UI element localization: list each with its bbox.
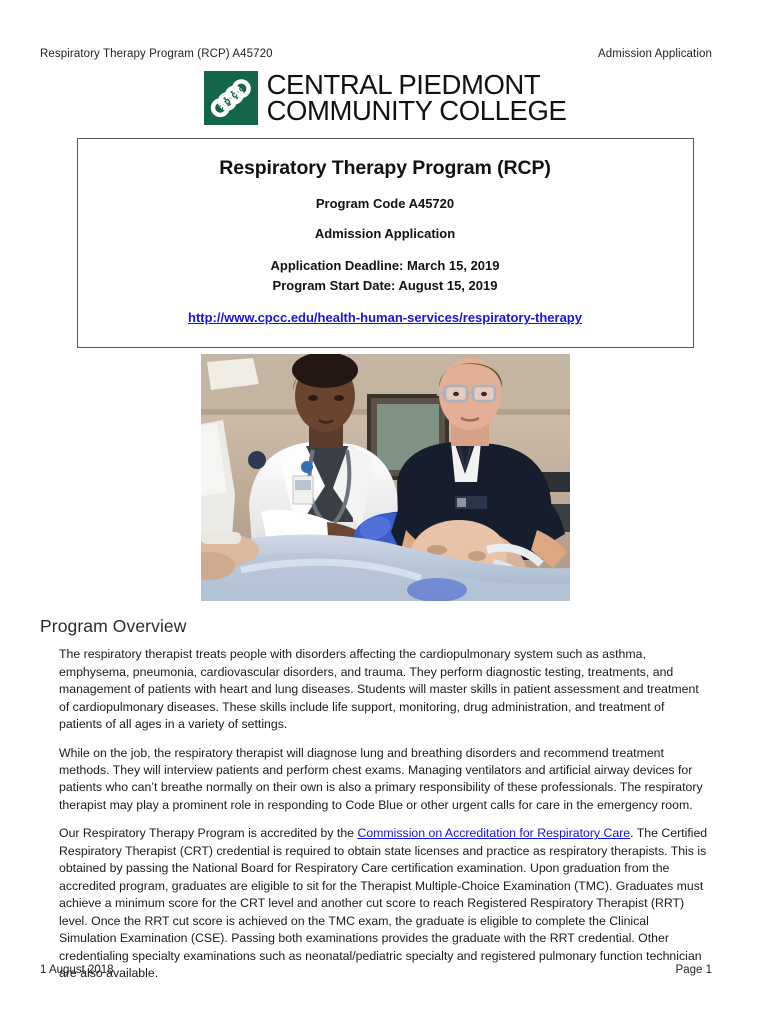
program-dates: Application Deadline: March 15, 2019 Pro… [98, 256, 673, 296]
accreditation-paragraph: Our Respiratory Therapy Program is accre… [59, 825, 708, 982]
program-title-box: Respiratory Therapy Program (RCP) Progra… [77, 138, 694, 348]
program-photo-container [40, 354, 730, 601]
accreditation-text-before: Our Respiratory Therapy Program is accre… [59, 826, 357, 840]
footer-page-number: Page 1 [676, 964, 730, 976]
logo-wordmark: CENTRAL PIEDMONT COMMUNITY COLLEGE [267, 71, 567, 123]
coarc-link[interactable]: Commission on Accreditation for Respirat… [357, 826, 630, 840]
document-header: Respiratory Therapy Program (RCP) A45720… [40, 0, 730, 60]
cpcc-logo-mark-icon: c p c c [204, 71, 258, 125]
overview-paragraph-1: The respiratory therapist treats people … [59, 646, 708, 733]
document-footer: 1 August 2018 Page 1 [40, 964, 730, 976]
header-doc-type-label: Admission Application [598, 48, 730, 60]
program-photo [201, 354, 570, 601]
logo-wordmark-line2: COMMUNITY COLLEGE [267, 98, 567, 124]
program-code: Program Code A45720 [98, 196, 673, 211]
application-deadline: Application Deadline: March 15, 2019 [98, 256, 673, 276]
accreditation-text-after: . The Certified Respiratory Therapist (C… [59, 826, 707, 980]
logo-lockup: c p c c CENTRAL PIEDMONT COMMUNITY COLLE… [204, 71, 567, 125]
footer-date: 1 August 2018 [40, 964, 114, 976]
overview-body: The respiratory therapist treats people … [40, 646, 730, 982]
program-start-date: Program Start Date: August 15, 2019 [98, 276, 673, 296]
document-page: Respiratory Therapy Program (RCP) A45720… [0, 0, 770, 1024]
overview-paragraph-2: While on the job, the respiratory therap… [59, 745, 708, 815]
program-title: Respiratory Therapy Program (RCP) [98, 157, 673, 180]
document-type: Admission Application [98, 226, 673, 241]
header-program-label: Respiratory Therapy Program (RCP) A45720 [40, 48, 273, 60]
college-logo: c p c c CENTRAL PIEDMONT COMMUNITY COLLE… [40, 71, 730, 125]
program-website-link[interactable]: http://www.cpcc.edu/health-human-service… [188, 310, 582, 325]
page-title: Program Overview [40, 616, 730, 637]
